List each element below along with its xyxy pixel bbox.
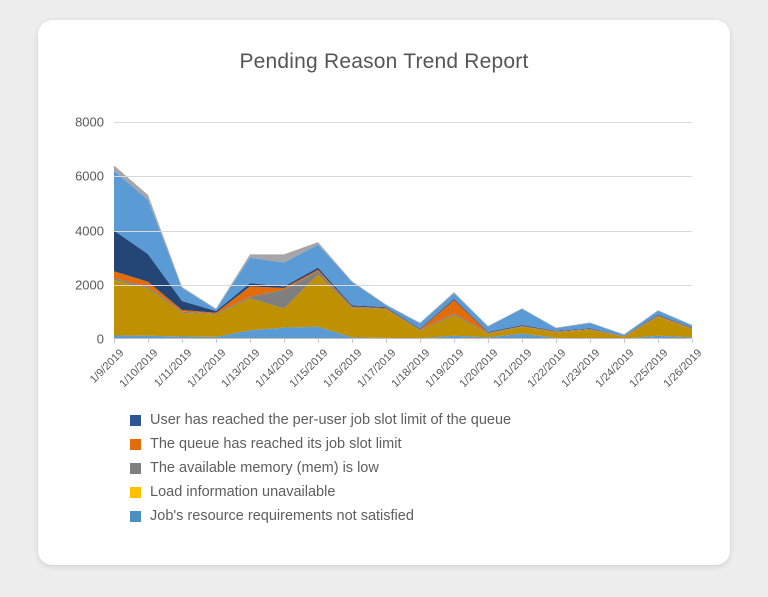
x-axis-tick (420, 339, 421, 343)
x-axis-tick (216, 339, 217, 343)
legend-item[interactable]: The available memory (mem) is low (130, 461, 710, 477)
chart-title: Pending Reason Trend Report (38, 50, 730, 74)
legend-item[interactable]: User has reached the per-user job slot l… (130, 413, 710, 429)
legend-swatch-icon (130, 511, 141, 522)
legend-swatch-icon (130, 439, 141, 450)
gridline (114, 231, 692, 232)
y-axis-tick-label: 0 (97, 332, 104, 347)
y-axis-tick-label: 4000 (75, 223, 104, 238)
page-root: Pending Reason Trend Report 020004000600… (0, 0, 768, 597)
x-axis-tick (590, 339, 591, 343)
x-axis-tick (318, 339, 319, 343)
legend-swatch-icon (130, 463, 141, 474)
chart-legend: User has reached the per-user job slot l… (130, 413, 710, 533)
x-axis-tick (692, 339, 693, 343)
y-axis-tick-label: 8000 (75, 115, 104, 130)
legend-item-label: User has reached the per-user job slot l… (150, 413, 511, 429)
legend-item[interactable]: Job's resource requirements not satisfie… (130, 509, 710, 525)
plot-area: 02000400060008000 1/9/20191/10/20191/11/… (114, 122, 692, 339)
legend-item[interactable]: The queue has reached its job slot limit (130, 437, 710, 453)
legend-item-label: Load information unavailable (150, 485, 335, 501)
x-axis-tick (454, 339, 455, 343)
gridline (114, 122, 692, 123)
legend-item-label: Job's resource requirements not satisfie… (150, 509, 414, 525)
x-axis-tick (488, 339, 489, 343)
x-axis-tick (522, 339, 523, 343)
gridline (114, 285, 692, 286)
legend-item-label: The available memory (mem) is low (150, 461, 379, 477)
x-axis-tick (386, 339, 387, 343)
x-axis-tick (250, 339, 251, 343)
x-axis-line (114, 338, 692, 339)
y-axis-tick-label: 2000 (75, 277, 104, 292)
x-axis-tick (148, 339, 149, 343)
x-axis-tick (624, 339, 625, 343)
legend-item[interactable]: Load information unavailable (130, 485, 710, 501)
x-axis-tick (182, 339, 183, 343)
x-axis-tick (556, 339, 557, 343)
x-axis-tick (658, 339, 659, 343)
legend-swatch-icon (130, 487, 141, 498)
x-axis-tick (352, 339, 353, 343)
legend-swatch-icon (130, 415, 141, 426)
legend-item-label: The queue has reached its job slot limit (150, 437, 401, 453)
x-axis-tick (284, 339, 285, 343)
gridline (114, 176, 692, 177)
x-axis-tick (114, 339, 115, 343)
y-axis-tick-label: 6000 (75, 169, 104, 184)
chart-card: Pending Reason Trend Report 020004000600… (38, 20, 730, 565)
